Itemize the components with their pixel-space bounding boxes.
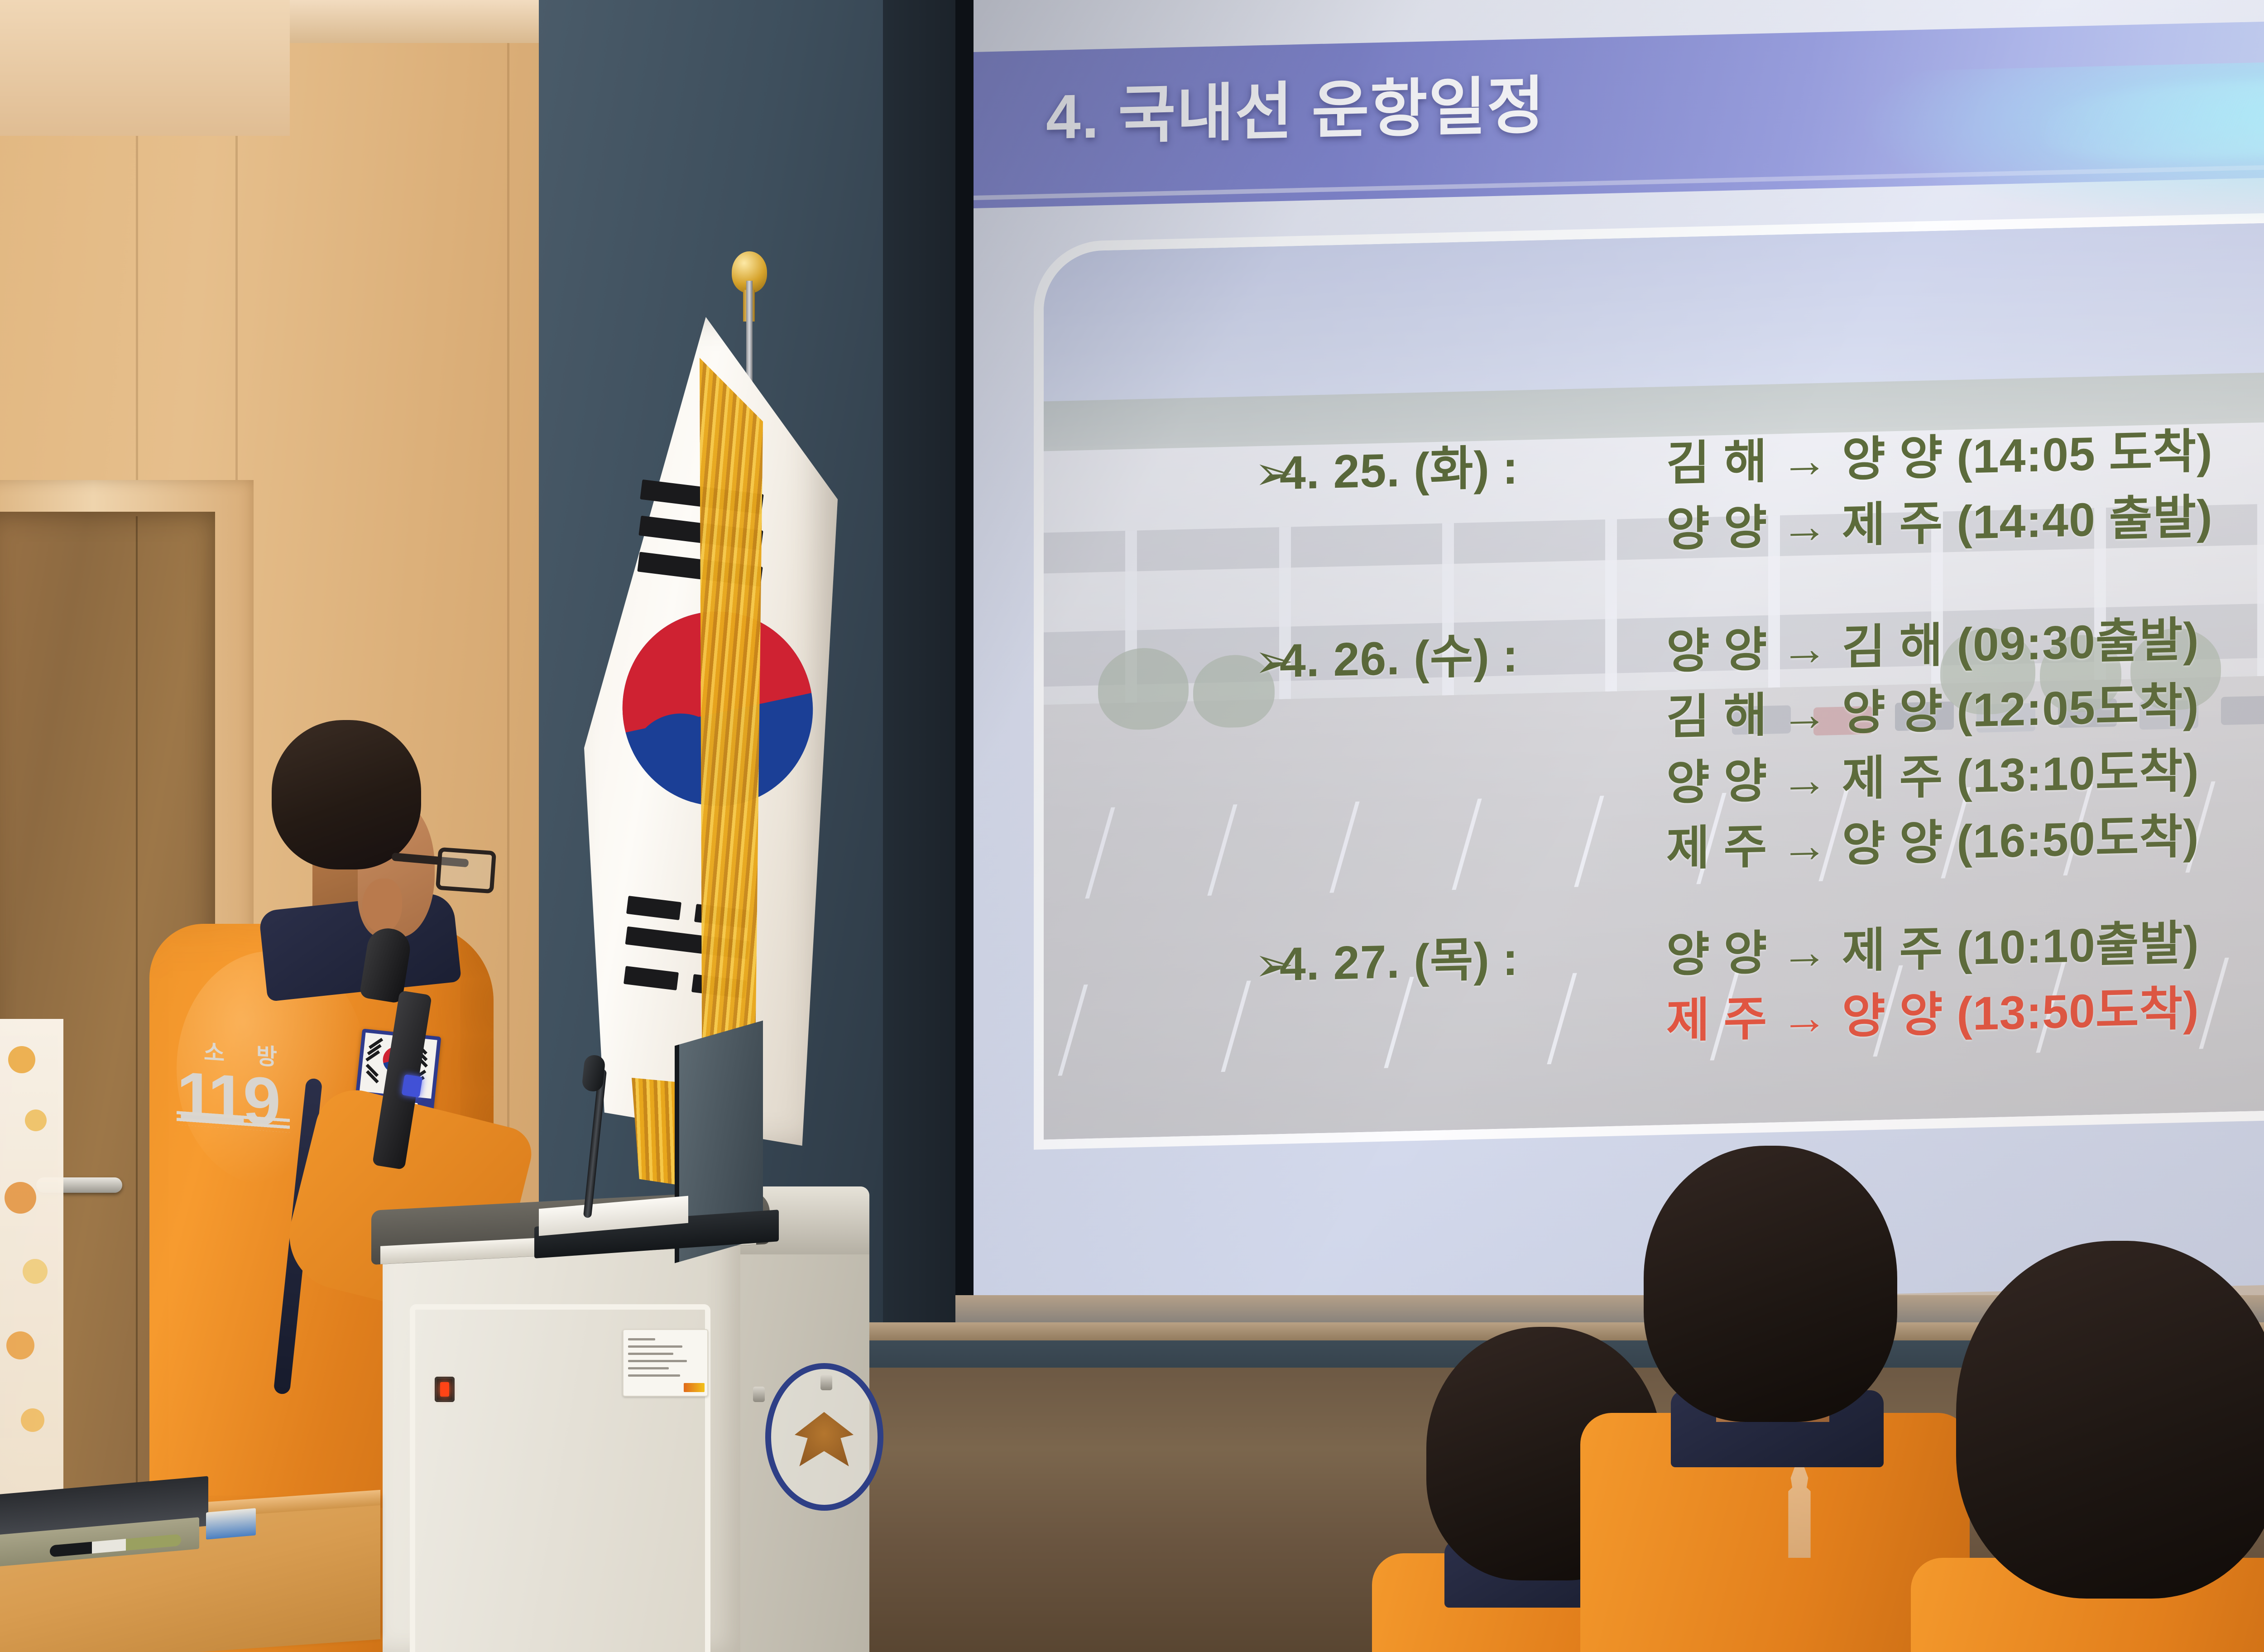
emblem-screw (753, 1387, 765, 1402)
slide-entry-0-line-1: 양 양 → 제 주 (14:40 출발) (1666, 478, 2213, 559)
slide-entry-2-line-1-highlight: 제 주 → 양 양 (13:50도착) (1666, 970, 2199, 1051)
table-booklet (206, 1508, 256, 1540)
presentation-slide: 4. 국내선 운항일정 ➢4. 25. (화): 김 해 → 양 양 (14:0… (974, 0, 2264, 1316)
glasses-lens-icon (436, 847, 496, 894)
ceiling-soffit (0, 0, 290, 136)
presentation-room-photo: 4. 국내선 운항일정 ➢4. 25. (화): 김 해 → 양 양 (14:0… (0, 0, 2264, 1652)
projection-screen: 4. 국내선 운항일정 ➢4. 25. (화): 김 해 → 양 양 (14:0… (974, 0, 2264, 1316)
podium-spec-label (623, 1329, 708, 1397)
uniform-chest-logo: 소 방 119 (177, 1028, 321, 1114)
slide-entry-1-date: ➢4. 26. (수): (1254, 617, 1519, 692)
slide-entry-2-date: ➢4. 27. (목): (1254, 920, 1519, 995)
slide-title: 4. 국내선 운항일정 (1046, 54, 1545, 157)
bullet-icon: ➢ (1254, 936, 1280, 992)
microphone-status-led (402, 1074, 423, 1098)
door-seam (136, 516, 138, 1513)
presenter-head (272, 720, 421, 869)
wall-poster (0, 1019, 63, 1494)
bullet-icon: ➢ (1254, 633, 1280, 689)
presenter-ear (362, 879, 402, 933)
podium-power-indicator[interactable] (435, 1377, 455, 1402)
slide-entry-1-line-3: 제 주 → 양 양 (16:50도착) (1666, 797, 2199, 879)
eagle-icon (795, 1412, 854, 1466)
bullet-icon: ➢ (1254, 445, 1280, 501)
emblem-screw (820, 1375, 832, 1390)
slide-entry-0-date: ➢4. 25. (화): (1254, 429, 1519, 504)
